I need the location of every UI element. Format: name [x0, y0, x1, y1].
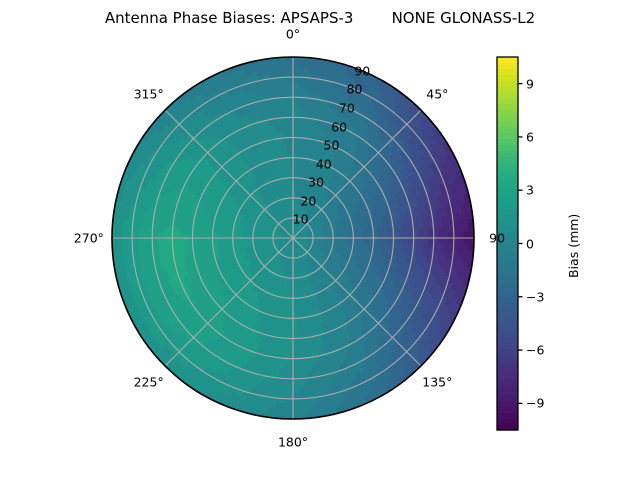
colorbar-tick--9: −9: [526, 396, 544, 411]
colorbar-axis-label: Bias (mm): [566, 213, 581, 277]
colorbar-tick-0: 0: [526, 236, 534, 251]
radial-label-70: 70: [339, 100, 355, 115]
radial-label-20: 20: [300, 193, 316, 208]
figure-canvas: Antenna Phase Biases: APSAPS-3 NONE GLON…: [0, 0, 640, 480]
colorbar-tick-9: 9: [526, 76, 534, 91]
colorbar-tick--6: −6: [526, 343, 544, 358]
azimuth-label-0: 0°: [286, 26, 300, 41]
radial-label-80: 80: [347, 82, 363, 97]
figure-title: Antenna Phase Biases: APSAPS-3 NONE GLON…: [0, 9, 640, 27]
azimuth-label-90: 90: [489, 231, 505, 246]
azimuth-label-270: 270°: [74, 231, 104, 246]
radial-label-30: 30: [308, 175, 324, 190]
radial-label-60: 60: [331, 119, 347, 134]
azimuth-label-135: 135°: [422, 375, 452, 390]
azimuth-label-225: 225°: [134, 375, 164, 390]
radial-label-90: 90: [354, 63, 370, 78]
polar-grid: [112, 57, 474, 419]
radial-label-10: 10: [293, 212, 309, 227]
radial-label-40: 40: [316, 156, 332, 171]
azimuth-label-315: 315°: [134, 86, 164, 101]
colorbar-tick--3: −3: [526, 289, 544, 304]
azimuth-label-45: 45°: [426, 86, 448, 101]
azimuth-label-180: 180°: [278, 435, 308, 450]
radial-label-50: 50: [324, 138, 340, 153]
colorbar-tick-6: 6: [526, 129, 534, 144]
colorbar-tick-3: 3: [526, 183, 534, 198]
